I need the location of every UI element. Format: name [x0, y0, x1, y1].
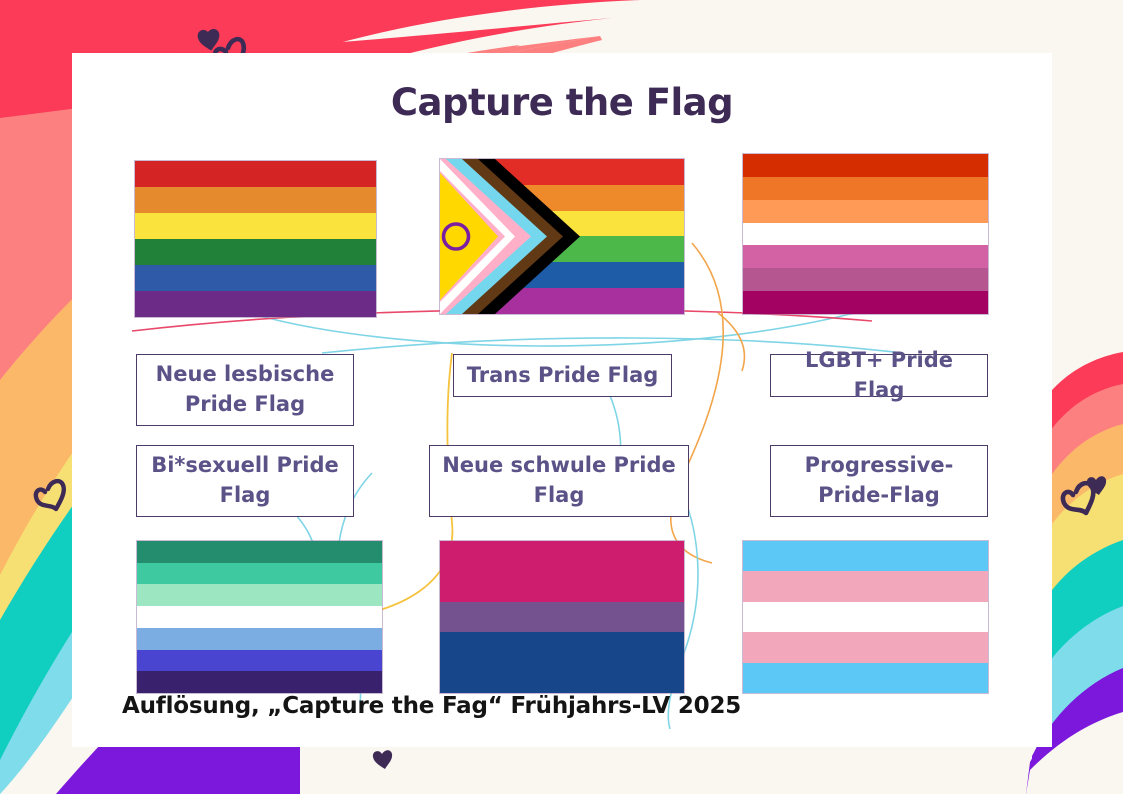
- label-progressive-pride-flag[interactable]: Progressive-Pride-Flag: [770, 445, 988, 517]
- connector-line-orange-small: [718, 313, 744, 371]
- label-neue-lesbische-pride-flag[interactable]: Neue lesbische Pride Flag: [136, 354, 354, 426]
- page-title: Capture the Flag: [72, 81, 1052, 124]
- flag-lgbt-rainbow[interactable]: [135, 161, 376, 317]
- label-bisexuell-pride-flag[interactable]: Bi*sexuell Pride Flag: [136, 445, 354, 517]
- slide-canvas: Capture the Flag: [0, 0, 1123, 794]
- label-neue-schwule-pride-flag[interactable]: Neue schwule Pride Flag: [429, 445, 689, 517]
- progressive-chevron-overlay: [440, 159, 684, 314]
- flag-new-lesbian[interactable]: [743, 154, 988, 314]
- flag-new-gay-mlm[interactable]: [137, 541, 382, 693]
- flag-bisexual[interactable]: [440, 541, 684, 693]
- flag-progressive-pride[interactable]: [440, 159, 684, 314]
- flag-transgender[interactable]: [743, 541, 988, 693]
- label-trans-pride-flag[interactable]: Trans Pride Flag: [453, 354, 672, 397]
- slide-footer: Auflösung, „Capture the Fag“ Frühjahrs-L…: [122, 693, 741, 719]
- slide-card: Capture the Flag: [72, 53, 1052, 747]
- label-lgbt-plus-pride-flag[interactable]: LGBT+ Pride Flag: [770, 354, 988, 397]
